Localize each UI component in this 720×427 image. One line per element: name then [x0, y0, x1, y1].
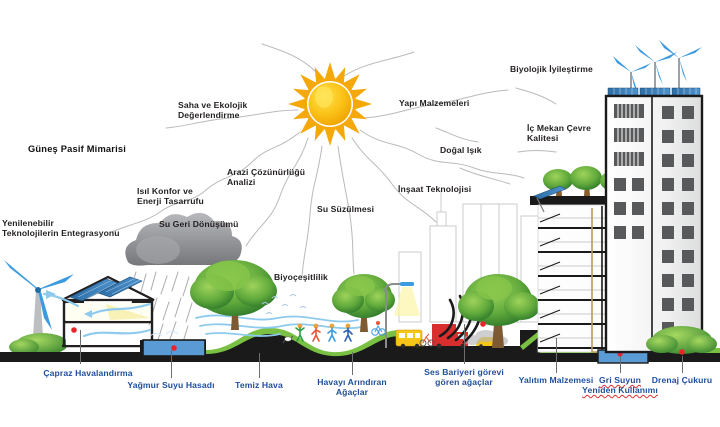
passive-solar-house — [44, 277, 154, 346]
label-havayi-arindiran: Havayı Arındıran Ağaçlar — [302, 377, 402, 397]
marker-dot — [171, 345, 177, 351]
leader-line — [171, 350, 172, 378]
leader-line — [464, 324, 465, 364]
high-rise-tower — [606, 40, 717, 355]
label-ic-mekan-cevre-kalitesi: İç Mekan Çevre Kalitesi — [527, 123, 635, 143]
label-arazi-cozunurlugu: Arazi Çözünürlüğü Analizi — [227, 167, 339, 187]
marker-dot — [71, 327, 77, 333]
leader-line — [80, 330, 81, 364]
label-su-geri-donusumu: Su Geri Dönüşümü — [159, 219, 275, 229]
label-isil-konfor: Isıl Konfor ve Enerji Tasarrufu — [137, 186, 241, 206]
label-insaat-teknolojisi: İnşaat Teknolojisi — [398, 184, 502, 194]
bus-icon — [396, 330, 422, 348]
leader-line — [352, 352, 353, 375]
label-su-suzulmesi: Su Süzülmesi — [317, 204, 409, 214]
leader-line — [556, 338, 557, 373]
infographic-canvas: Güneş Pasif Mimarisi Yenilenebilir Tekno… — [0, 0, 720, 427]
leader-line — [620, 356, 621, 373]
sun-icon — [288, 62, 372, 146]
marker-dot — [679, 349, 685, 355]
label-yagmur-suyu-hasadi: Yağmur Suyu Hasadı — [115, 380, 227, 390]
label-yenilenebilir-teknolojiler: Yenilenebilir Teknolojilerin Entegrasyon… — [2, 218, 134, 238]
leader-line — [682, 356, 683, 373]
solar-panel-icon — [608, 88, 700, 95]
label-saha-ve-ekolojik: Saha ve Ekolojik Değerlendirme — [178, 100, 290, 120]
label-temiz-hava: Temiz Hava — [218, 380, 300, 390]
label-drenaj-cukuru: Drenaj Çukuru — [639, 375, 720, 385]
leader-line — [259, 353, 260, 378]
label-biyocesitlilik: Biyoçeşitlilik — [274, 272, 358, 282]
label-capraz-havalandirma: Çapraz Havalandırma — [28, 368, 148, 378]
label-dogal-isik: Doğal Işık — [440, 145, 514, 155]
label-yapi-malzemeleri: Yapı Malzemeleri — [399, 98, 503, 108]
label-biyolojik-iyilestirme: Biyolojik İyileştirme — [510, 64, 634, 74]
label-gunes-pasif-mimarisi: Güneş Pasif Mimarisi — [28, 144, 164, 155]
marker-dot — [480, 321, 486, 327]
